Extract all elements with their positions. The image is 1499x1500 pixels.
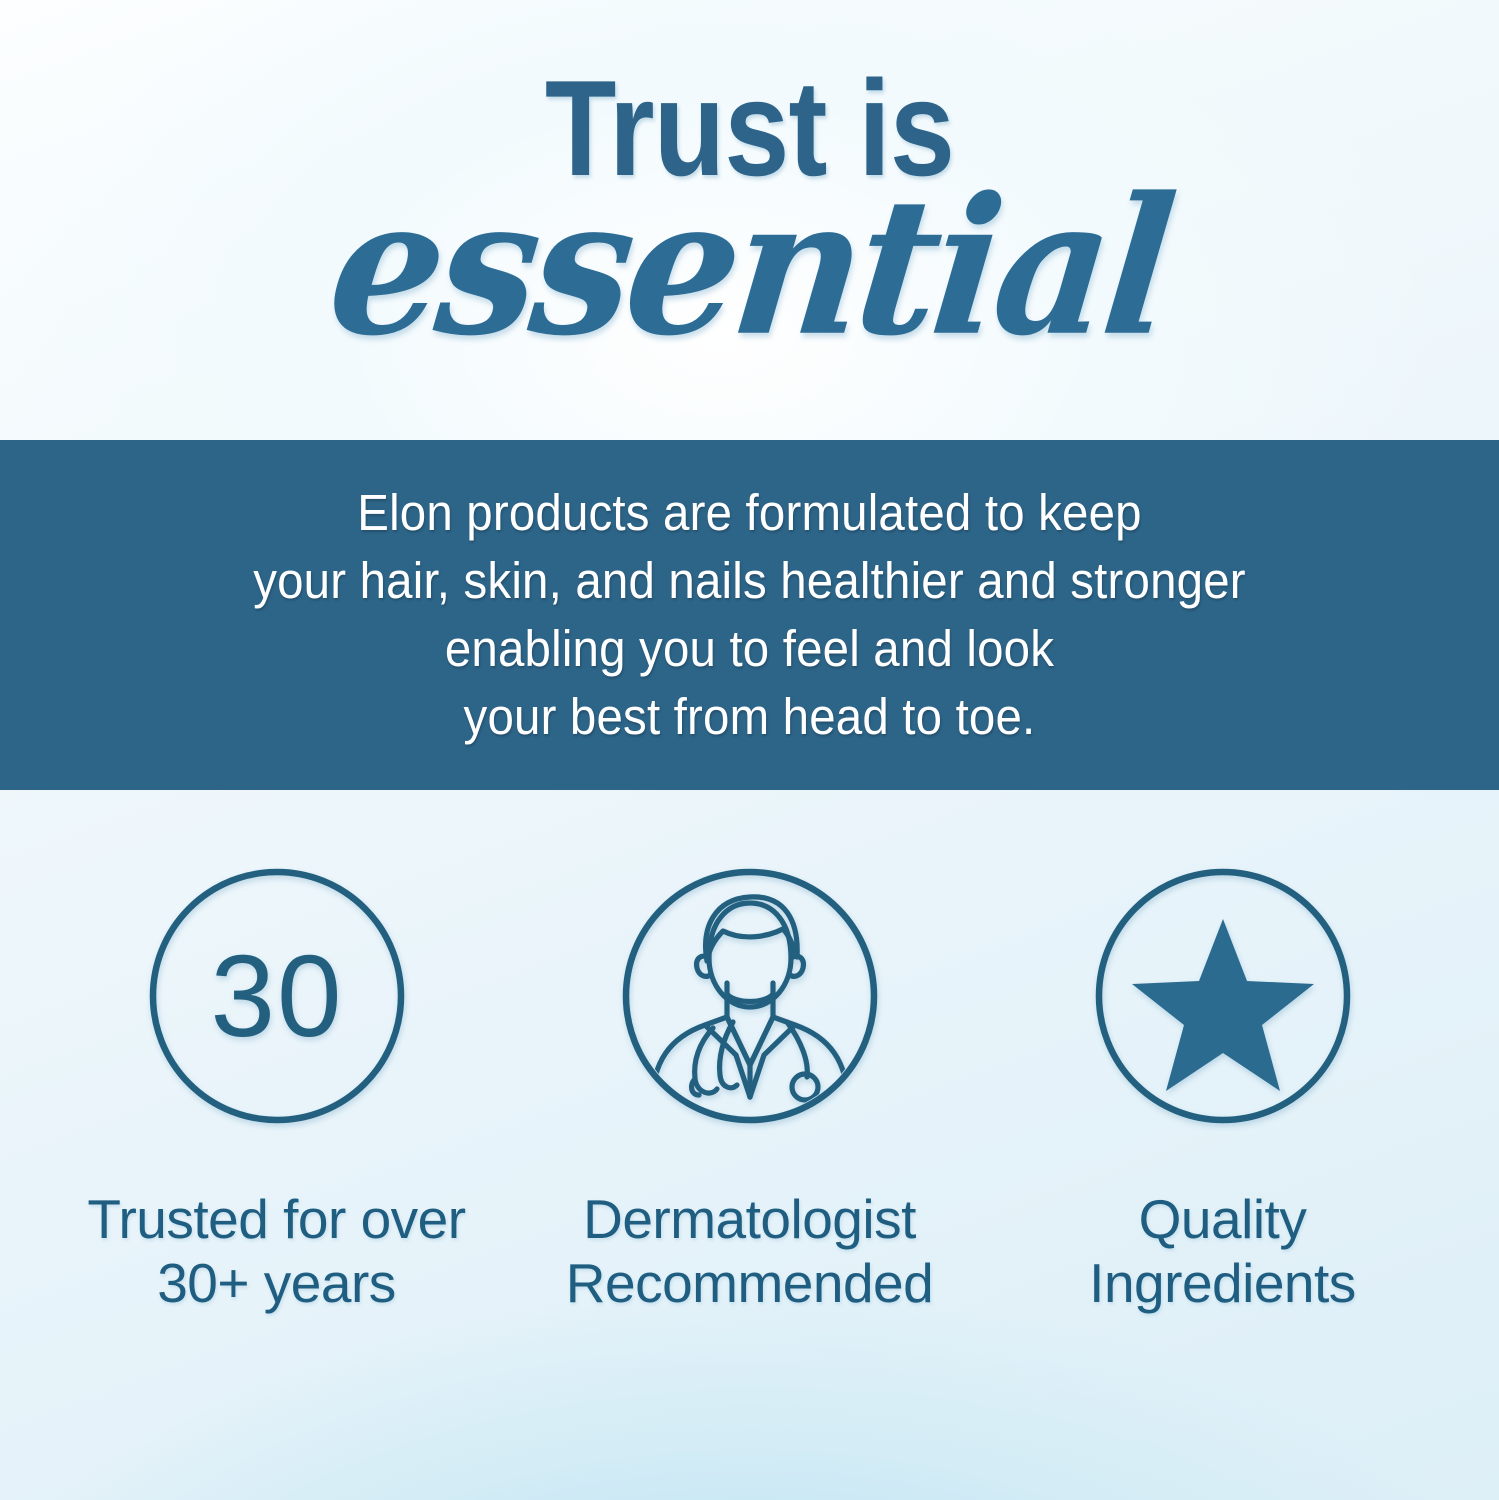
headline-line-2-script: essential: [0, 173, 1499, 362]
badge-number-text: 30: [210, 931, 343, 1061]
doctor-dermatologist-icon: [619, 865, 881, 1127]
badge-caption: Quality Ingredients: [1089, 1187, 1356, 1316]
banner-line: enabling you to feel and look: [90, 615, 1410, 683]
promo-graphic: Trust is essential Elon products are for…: [0, 0, 1499, 1500]
banner-line: your best from head to toe.: [90, 683, 1410, 751]
circle-number-30-icon: 30: [146, 865, 408, 1127]
star-icon: [1092, 865, 1354, 1127]
badge-caption: Dermatologist Recommended: [566, 1187, 933, 1316]
message-banner: Elon products are formulated to keep you…: [0, 440, 1499, 790]
badge-quality-ingredients: Quality Ingredients: [988, 865, 1458, 1316]
badge-trusted-years: 30 Trusted for over 30+ years: [42, 865, 512, 1316]
trust-badges-row: 30 Trusted for over 30+ years: [0, 865, 1499, 1316]
badge-caption-line: Trusted for over: [87, 1187, 465, 1251]
badge-caption-line: 30+ years: [87, 1251, 465, 1315]
banner-line: Elon products are formulated to keep: [90, 479, 1410, 547]
banner-line: your hair, skin, and nails healthier and…: [90, 547, 1410, 615]
banner-paragraph: Elon products are formulated to keep you…: [52, 479, 1446, 750]
badge-caption-line: Recommended: [566, 1251, 933, 1315]
badge-dermatologist: Dermatologist Recommended: [515, 865, 985, 1316]
headline: Trust is essential: [0, 60, 1499, 356]
badge-caption-line: Ingredients: [1089, 1251, 1356, 1315]
badge-caption-line: Dermatologist: [566, 1187, 933, 1251]
badge-caption: Trusted for over 30+ years: [87, 1187, 465, 1316]
badge-caption-line: Quality: [1089, 1187, 1356, 1251]
